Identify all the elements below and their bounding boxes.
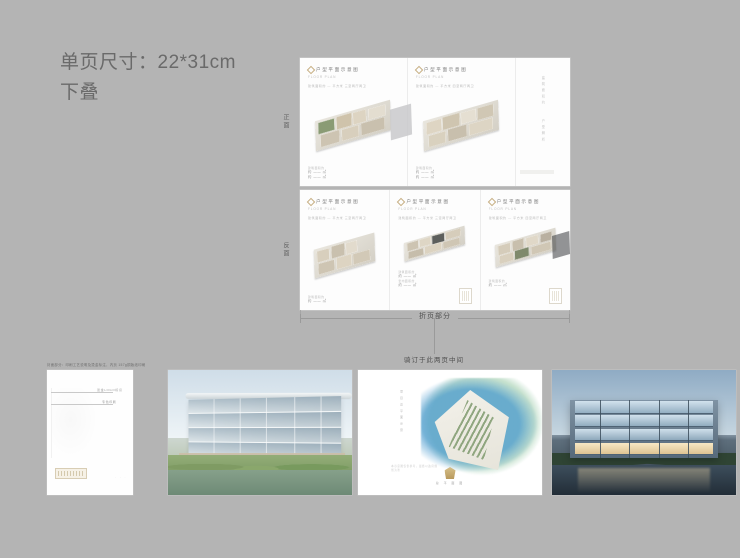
callout-label-1: 烫金LOGO标识 xyxy=(97,388,122,392)
binding-note: 骑订于此两页中间 xyxy=(404,354,464,364)
spread-front-page-2[interactable]: 户型平面示意图 FLOOR PLAN 建筑面积约 — 平方米 四室两厅两卫 xyxy=(408,58,516,186)
meta-area-b: 约 —— ㎡ xyxy=(308,175,399,180)
page-title: 户型平面示意图 xyxy=(497,199,540,205)
floorplan-meta: 建筑面积约 约 —— ㎡ 约 —— ㎡ xyxy=(416,166,507,180)
page-subtitle: FLOOR PLAN xyxy=(489,207,562,211)
cover-corner-dots: · · · xyxy=(115,475,127,479)
page-subtitle: FLOOR PLAN xyxy=(308,75,399,79)
thumbnail-cover[interactable]: 烫金LOGO标识 专色印刷 · · · 封面 xyxy=(47,370,133,495)
callout-line-1 xyxy=(51,392,113,393)
page-header: 户型平面示意图 xyxy=(308,199,381,205)
floorplan-render xyxy=(308,220,381,293)
dusk-building-facade xyxy=(570,400,717,458)
brochure-spread-front[interactable]: 正面 户型平面示意图 FLOOR PLAN 建筑面积约 — 平方米 三室两厅两卫 xyxy=(300,58,570,186)
spread-back-page-3[interactable]: 户型平面示意图 FLOOR PLAN 建筑面积约 — 平方米 四室两厅两卫 xyxy=(481,190,570,310)
page-subtitle: FLOOR PLAN xyxy=(416,75,507,79)
spread-back-pages: 户型平面示意图 FLOOR PLAN 建筑面积约 — 平方米 三室两厅两卫 xyxy=(300,190,570,310)
pool-reflection xyxy=(578,468,711,493)
page-title: 户型平面示意图 xyxy=(406,199,449,205)
crest-icon xyxy=(444,467,455,479)
page-footer xyxy=(489,288,562,304)
diamond-icon xyxy=(307,198,315,206)
spread-back-page-2[interactable]: 户型平面示意图 FLOOR PLAN 建筑面积约 — 平方米 三室两厅两卫 xyxy=(390,190,480,310)
vertical-text-block-1: 建筑面积约 xyxy=(540,76,546,107)
qr-code-icon xyxy=(459,288,472,304)
binding-leader-line xyxy=(434,318,435,354)
site-plan-page: 项目总平面示意 本示意图仅供参考，最终以政府规划为准 总 平 面 图 xyxy=(358,370,542,495)
cover-logo-placeholder xyxy=(55,468,87,479)
page-header: 户型平面示意图 xyxy=(308,67,399,73)
spec-heading-line1: 单页尺寸：22*31cm xyxy=(60,52,236,73)
site-plan-vertical-text: 项目总平面示意 xyxy=(398,390,404,435)
spread-back-side-label: 反面 xyxy=(282,242,288,258)
thumbnail-p1-p2[interactable]: P1 P2 xyxy=(168,370,352,495)
dimension-tick-left xyxy=(300,314,301,323)
diamond-icon xyxy=(487,198,495,206)
floorplan-slab xyxy=(495,228,556,268)
dusk-building-render xyxy=(552,370,736,495)
floorplan-render xyxy=(489,220,562,277)
spec-heading: 单页尺寸：22*31cm 下叠 xyxy=(60,48,236,108)
thumbnail-p5-p6[interactable]: P5 P6 xyxy=(552,370,736,495)
floorplan-slab xyxy=(423,100,499,151)
page-title: 户型平面示意图 xyxy=(316,67,359,73)
page-subtitle: FLOOR PLAN xyxy=(398,207,471,211)
floorplan-meta: 建筑面积约 约 —— ㎡ 约 —— ㎡ xyxy=(308,166,399,180)
cover-artwork: 烫金LOGO标识 专色印刷 · · · xyxy=(47,370,133,495)
qr-code-icon xyxy=(549,288,562,304)
fold-dimension-label: 折页部分 xyxy=(412,311,458,321)
page-header: 户型平面示意图 xyxy=(489,199,562,205)
floorplan-slab xyxy=(404,225,465,261)
daytime-building-render xyxy=(168,370,352,495)
page-subtitle: FLOOR PLAN xyxy=(308,207,381,211)
spread-front-pages: 户型平面示意图 FLOOR PLAN 建筑面积约 — 平方米 三室两厅两卫 xyxy=(300,58,570,186)
callout-label-2: 专色印刷 xyxy=(102,400,116,404)
page-thumbnail-row: 封面部分：印刷工艺说明及烫金标注，内页 157g铜版纸印刷 烫金LOGO标识 专… xyxy=(0,370,740,530)
brochure-spread-back[interactable]: 反面 户型平面示意图 FLOOR PLAN 建筑面积约 — 平方米 三室两厅两卫 xyxy=(300,190,570,310)
floorplan-meta: 建筑面积约 约 —— ㎡ xyxy=(308,295,381,304)
floorplan-render xyxy=(398,220,471,268)
page-title: 户型平面示意图 xyxy=(424,67,467,73)
site-plan-note: 本示意图仅供参考，最终以政府规划为准 xyxy=(391,465,439,473)
dimension-tick-right xyxy=(569,314,570,323)
spec-heading-line2: 下叠 xyxy=(60,78,236,108)
spread-front-side-label: 正面 xyxy=(282,114,288,130)
floorplan-meta: 建筑面积约 约 —— ㎡ 套内面积约 约 —— ㎡ xyxy=(398,270,471,288)
site-plan-logo: 总 平 面 图 xyxy=(436,467,465,485)
site-plan-logo-text: 总 平 面 图 xyxy=(436,481,465,485)
water-feature xyxy=(168,470,352,495)
cover-watermark xyxy=(51,388,98,458)
presentation-board: 单页尺寸：22*31cm 下叠 正面 户型平面示意图 FLOOR PLAN 建筑… xyxy=(0,0,740,558)
meta-area-b: 约 —— ㎡ xyxy=(416,175,507,180)
diamond-icon xyxy=(307,66,315,74)
diamond-icon xyxy=(415,66,423,74)
cover-top-note: 封面部分：印刷工艺说明及烫金标注，内页 157g铜版纸印刷 xyxy=(47,362,177,367)
callout-line-2 xyxy=(51,404,113,405)
floorplan-render xyxy=(416,88,507,164)
diamond-icon xyxy=(397,198,405,206)
page-footer xyxy=(398,288,471,304)
floorplan-render xyxy=(308,88,399,164)
spread-back-page-1[interactable]: 户型平面示意图 FLOOR PLAN 建筑面积约 — 平方米 三室两厅两卫 xyxy=(300,190,390,310)
spread-front-page-1[interactable]: 户型平面示意图 FLOOR PLAN 建筑面积约 — 平方米 三室两厅两卫 xyxy=(300,58,408,186)
floorplan-terrace xyxy=(552,232,570,260)
meta-area-a: 约 —— ㎡ xyxy=(308,299,381,304)
floorplan-meta: 建筑面积约 约 —— ㎡ xyxy=(489,279,562,288)
fold-dimension: 折页部分 xyxy=(300,318,570,319)
spread-front-page-3[interactable]: 建筑面积约 户型解析 xyxy=(516,58,570,186)
thumbnail-p3-p4[interactable]: 项目总平面示意 本示意图仅供参考，最终以政府规划为准 总 平 面 图 P3 P4 xyxy=(358,370,542,495)
floorplan-slab xyxy=(314,233,376,279)
floorplan-slab xyxy=(315,100,391,151)
page-header: 户型平面示意图 xyxy=(398,199,471,205)
page-title: 户型平面示意图 xyxy=(316,199,359,205)
vertical-text-block-2: 户型解析 xyxy=(540,119,546,144)
footer-bar xyxy=(520,170,554,174)
page-header: 户型平面示意图 xyxy=(416,67,507,73)
